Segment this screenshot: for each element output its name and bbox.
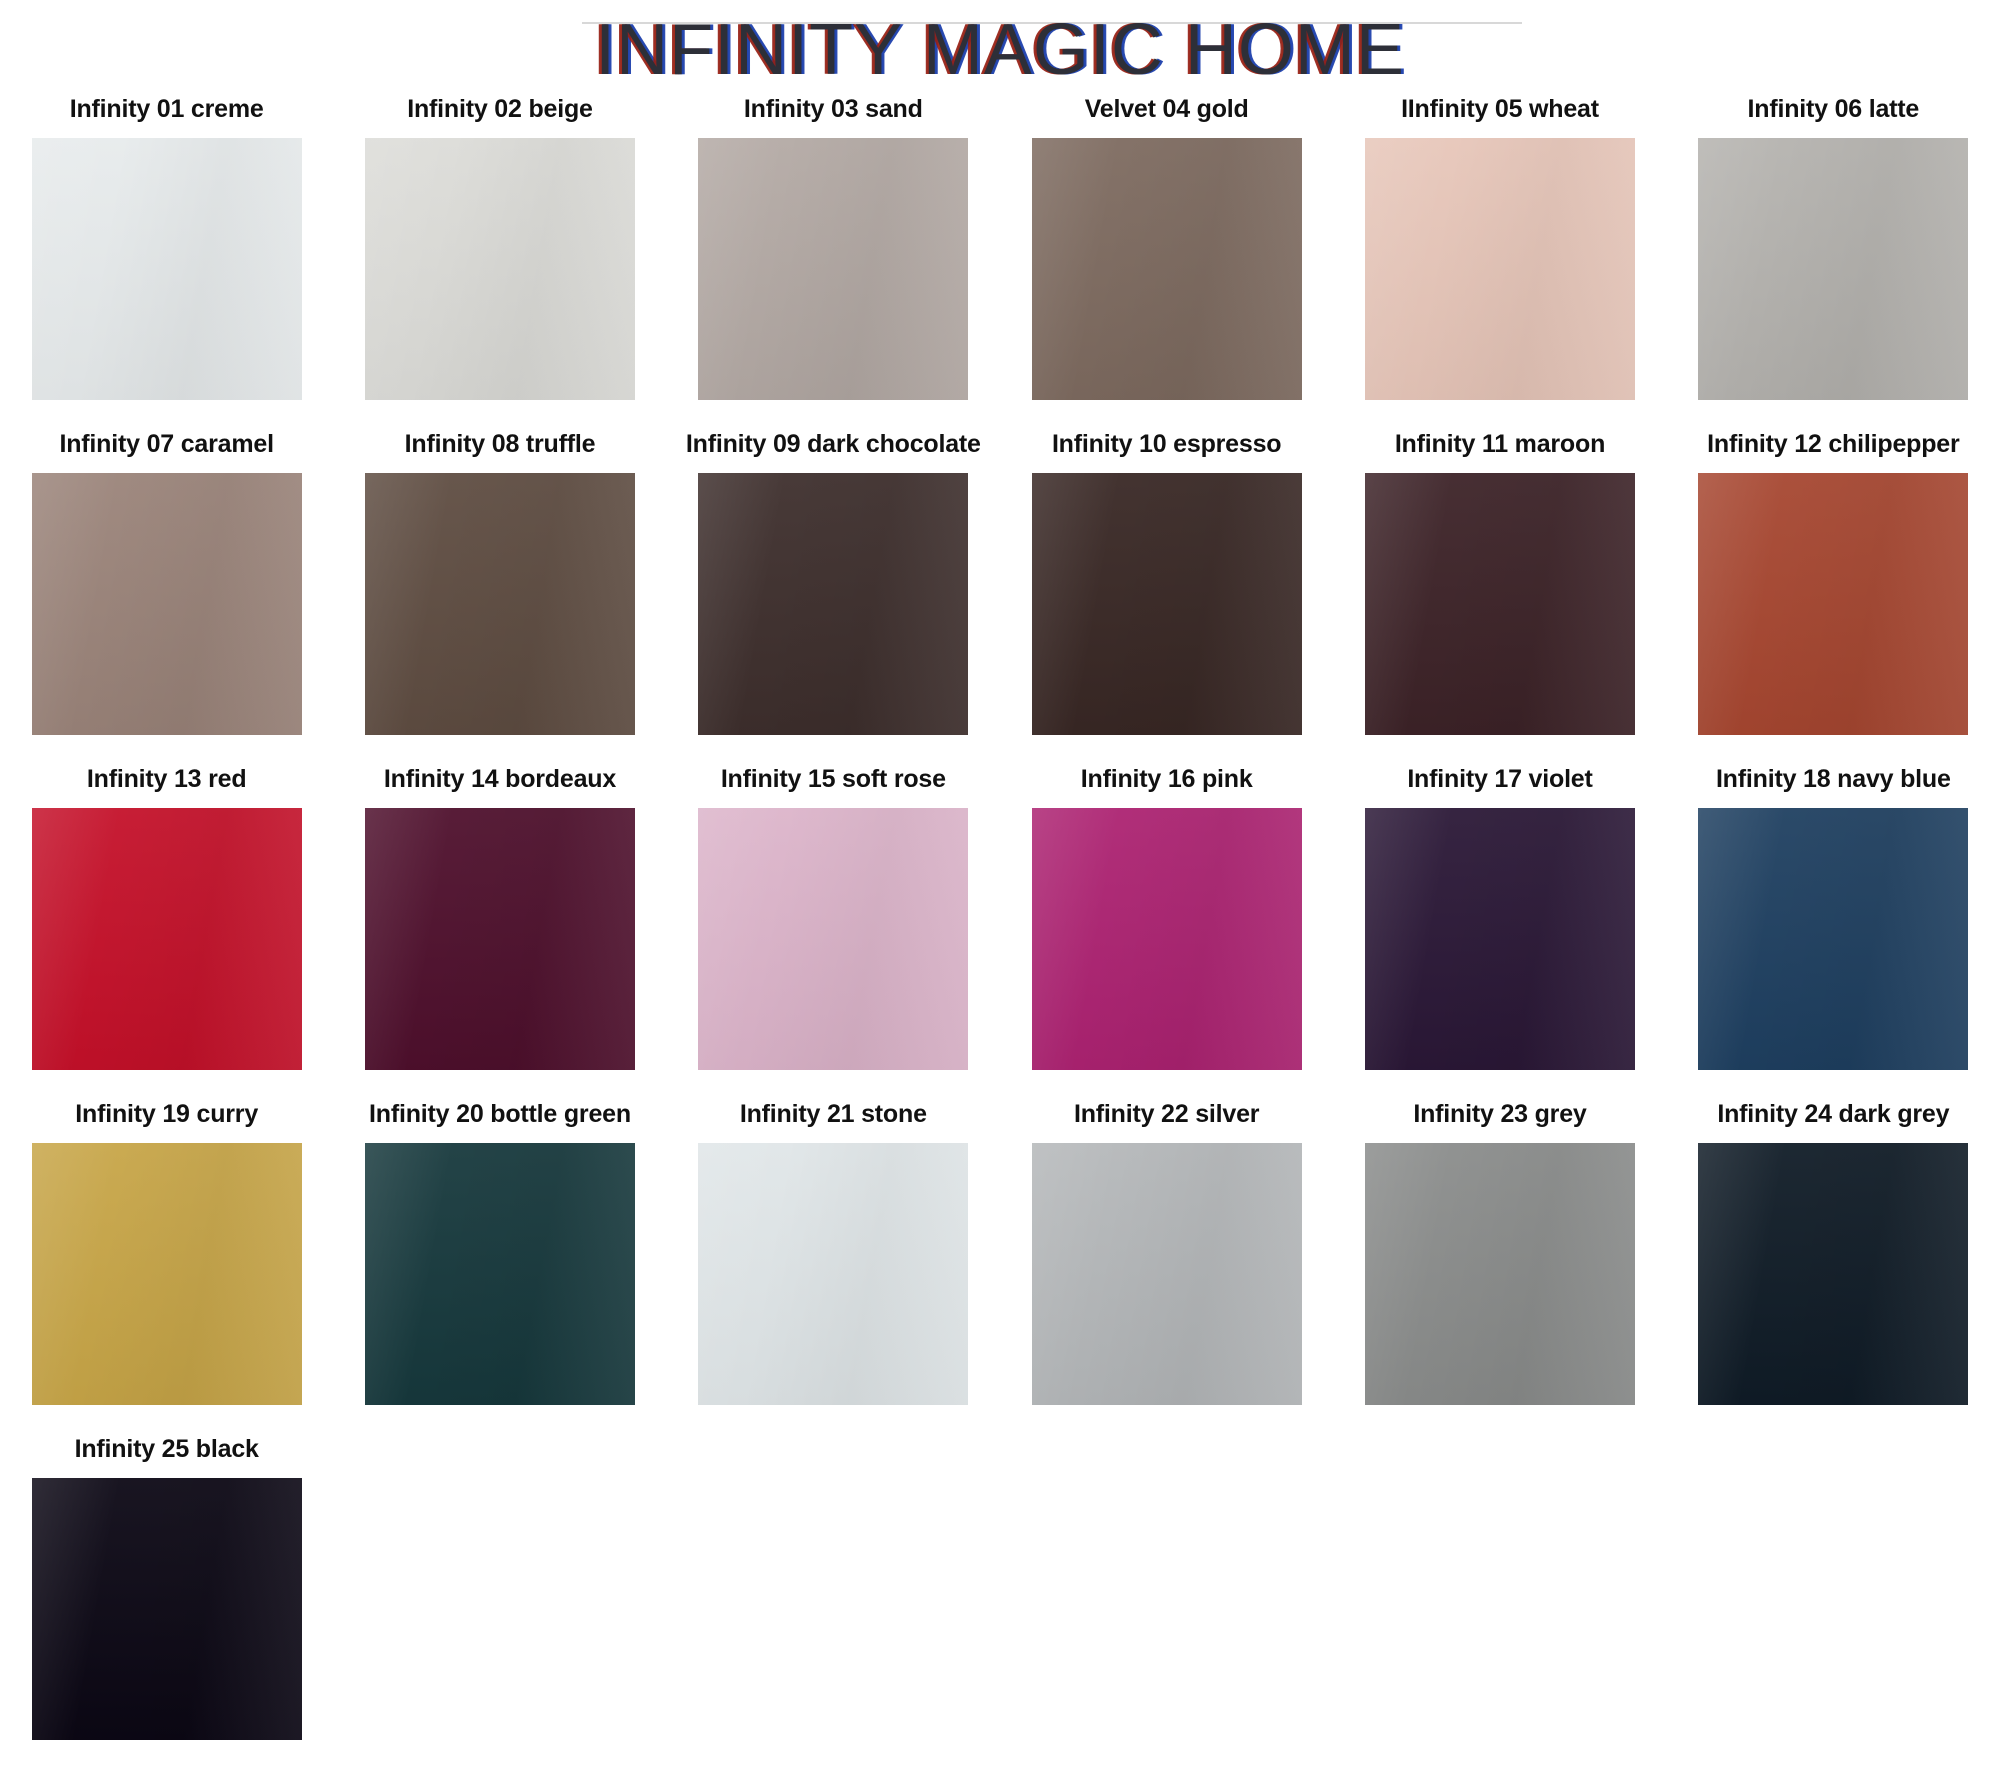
swatch-cell[interactable]: Velvet 04 gold bbox=[1000, 96, 1333, 431]
swatch-cell[interactable]: Infinity 19 curry bbox=[0, 1101, 333, 1436]
swatch-cell[interactable]: Infinity 21 stone bbox=[667, 1101, 1000, 1436]
swatch-cell[interactable]: Infinity 13 red bbox=[0, 766, 333, 1101]
colour-swatch[interactable] bbox=[1032, 138, 1302, 400]
swatch-label: Infinity 15 soft rose bbox=[667, 766, 1000, 800]
swatch-label: Infinity 18 navy blue bbox=[1667, 766, 2000, 800]
colour-swatch[interactable] bbox=[1698, 138, 1968, 400]
swatch-cell[interactable]: Infinity 09 dark chocolate bbox=[667, 431, 1000, 766]
colour-swatch[interactable] bbox=[698, 808, 968, 1070]
swatch-label: IInfinity 05 wheat bbox=[1333, 96, 1666, 130]
swatch-label: Infinity 01 creme bbox=[0, 96, 333, 130]
colour-swatch[interactable] bbox=[1365, 1143, 1635, 1405]
swatch-cell[interactable]: Infinity 02 beige bbox=[333, 96, 666, 431]
swatch-cell[interactable]: Infinity 15 soft rose bbox=[667, 766, 1000, 1101]
swatch-label: Infinity 22 silver bbox=[1000, 1101, 1333, 1135]
swatch-cell[interactable]: Infinity 17 violet bbox=[1333, 766, 1666, 1101]
swatch-cell[interactable]: Infinity 16 pink bbox=[1000, 766, 1333, 1101]
swatch-label: Infinity 09 dark chocolate bbox=[667, 431, 1000, 465]
colour-swatch[interactable] bbox=[32, 138, 302, 400]
swatch-cell[interactable]: Infinity 14 bordeaux bbox=[333, 766, 666, 1101]
colour-swatch[interactable] bbox=[365, 473, 635, 735]
swatch-cell[interactable]: Infinity 24 dark grey bbox=[1667, 1101, 2000, 1436]
colour-swatch[interactable] bbox=[698, 1143, 968, 1405]
swatch-cell[interactable]: Infinity 18 navy blue bbox=[1667, 766, 2000, 1101]
colour-swatch-grid: Infinity 01 cremeInfinity 02 beigeInfini… bbox=[0, 96, 2000, 1771]
colour-swatch[interactable] bbox=[1698, 473, 1968, 735]
colour-swatch[interactable] bbox=[32, 473, 302, 735]
swatch-label: Infinity 03 sand bbox=[667, 96, 1000, 130]
swatch-label: Infinity 12 chilipepper bbox=[1667, 431, 2000, 465]
swatch-cell[interactable]: Infinity 08 truffle bbox=[333, 431, 666, 766]
page-title: INFINITY MAGIC HOME bbox=[0, 14, 2000, 86]
swatch-label: Infinity 06 latte bbox=[1667, 96, 2000, 130]
swatch-cell[interactable]: IInfinity 05 wheat bbox=[1333, 96, 1666, 431]
swatch-cell[interactable]: Infinity 20 bottle green bbox=[333, 1101, 666, 1436]
page-header: INFINITY MAGIC HOME bbox=[0, 0, 2000, 92]
swatch-label: Infinity 24 dark grey bbox=[1667, 1101, 2000, 1135]
swatch-label: Infinity 17 violet bbox=[1333, 766, 1666, 800]
swatch-label: Velvet 04 gold bbox=[1000, 96, 1333, 130]
colour-swatch[interactable] bbox=[365, 808, 635, 1070]
swatch-label: Infinity 20 bottle green bbox=[333, 1101, 666, 1135]
colour-swatch[interactable] bbox=[1365, 473, 1635, 735]
swatch-label: Infinity 14 bordeaux bbox=[333, 766, 666, 800]
colour-swatch[interactable] bbox=[1032, 473, 1302, 735]
swatch-label: Infinity 16 pink bbox=[1000, 766, 1333, 800]
swatch-label: Infinity 08 truffle bbox=[333, 431, 666, 465]
colour-swatch[interactable] bbox=[32, 1478, 302, 1740]
colour-swatch[interactable] bbox=[365, 1143, 635, 1405]
colour-swatch[interactable] bbox=[1032, 1143, 1302, 1405]
swatch-cell[interactable]: Infinity 22 silver bbox=[1000, 1101, 1333, 1436]
swatch-label: Infinity 23 grey bbox=[1333, 1101, 1666, 1135]
colour-swatch[interactable] bbox=[32, 808, 302, 1070]
swatch-cell[interactable]: Infinity 23 grey bbox=[1333, 1101, 1666, 1436]
colour-swatch[interactable] bbox=[32, 1143, 302, 1405]
colour-swatch[interactable] bbox=[698, 138, 968, 400]
swatch-label: Infinity 13 red bbox=[0, 766, 333, 800]
swatch-cell[interactable]: Infinity 11 maroon bbox=[1333, 431, 1666, 766]
swatch-cell[interactable]: Infinity 12 chilipepper bbox=[1667, 431, 2000, 766]
swatch-cell[interactable]: Infinity 07 caramel bbox=[0, 431, 333, 766]
colour-swatch[interactable] bbox=[698, 473, 968, 735]
swatch-label: Infinity 19 curry bbox=[0, 1101, 333, 1135]
swatch-label: Infinity 11 maroon bbox=[1333, 431, 1666, 465]
colour-swatch[interactable] bbox=[1365, 808, 1635, 1070]
swatch-label: Infinity 10 espresso bbox=[1000, 431, 1333, 465]
colour-swatch[interactable] bbox=[1698, 1143, 1968, 1405]
colour-swatch[interactable] bbox=[1698, 808, 1968, 1070]
swatch-label: Infinity 25 black bbox=[0, 1436, 333, 1470]
swatch-label: Infinity 02 beige bbox=[333, 96, 666, 130]
swatch-cell[interactable]: Infinity 03 sand bbox=[667, 96, 1000, 431]
swatch-cell[interactable]: Infinity 06 latte bbox=[1667, 96, 2000, 431]
swatch-cell[interactable]: Infinity 25 black bbox=[0, 1436, 333, 1771]
swatch-cell[interactable]: Infinity 01 creme bbox=[0, 96, 333, 431]
swatch-cell[interactable]: Infinity 10 espresso bbox=[1000, 431, 1333, 766]
swatch-label: Infinity 21 stone bbox=[667, 1101, 1000, 1135]
colour-swatch[interactable] bbox=[1365, 138, 1635, 400]
swatch-label: Infinity 07 caramel bbox=[0, 431, 333, 465]
colour-swatch[interactable] bbox=[365, 138, 635, 400]
colour-swatch[interactable] bbox=[1032, 808, 1302, 1070]
